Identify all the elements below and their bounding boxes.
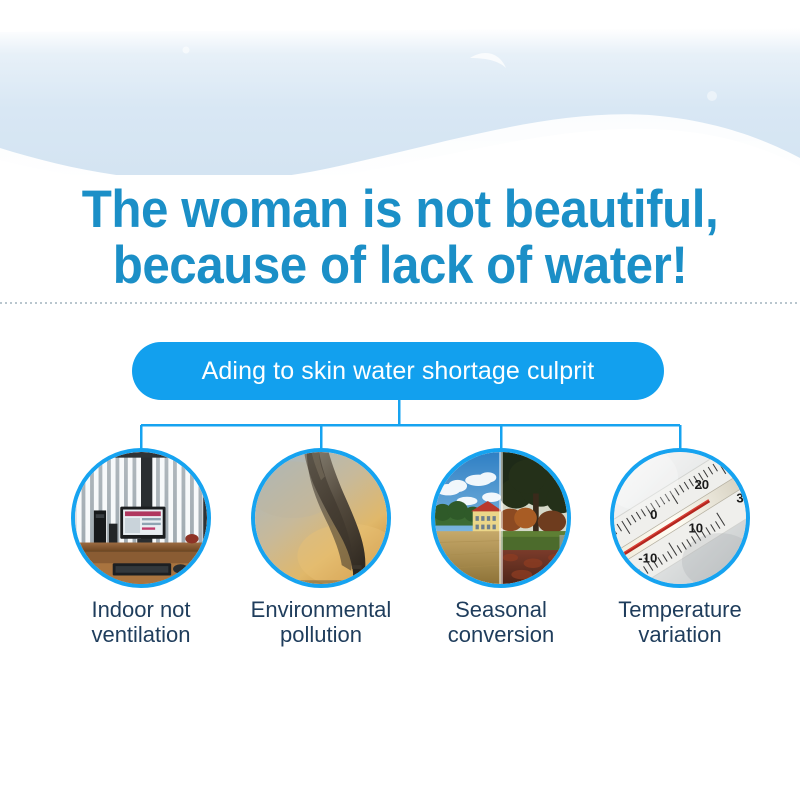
- cause-item-seasonal-conversion[interactable]: Seasonal conversion: [411, 448, 591, 647]
- svg-text:10: 10: [688, 521, 703, 536]
- svg-text:20: 20: [694, 477, 709, 492]
- svg-text:30: 30: [736, 491, 746, 506]
- cause-item-temperature-variation[interactable]: -10 0 10 20 30 Temperature variation: [590, 448, 770, 647]
- cause-items-row: Indoor not ventilation: [0, 448, 800, 678]
- smoke-stack-photo: [255, 452, 387, 584]
- culprit-pill-banner[interactable]: Ading to skin water shortage culprit: [132, 342, 664, 400]
- section-divider: [0, 302, 800, 304]
- cause-caption-pollution: Environmental pollution: [231, 597, 411, 647]
- season-split-photo: [435, 452, 567, 584]
- circle-frame-indoor: [71, 448, 211, 588]
- wave-banner: [0, 0, 800, 175]
- office-interior-photo: [75, 452, 207, 584]
- thermometer-photo: -10 0 10 20 30: [614, 452, 746, 584]
- pill-label: Ading to skin water shortage culprit: [202, 357, 595, 386]
- page-headline: The woman is not beautiful, because of l…: [28, 182, 772, 294]
- cause-item-indoor-not-ventilation[interactable]: Indoor not ventilation: [51, 448, 231, 647]
- svg-text:-10: -10: [638, 551, 657, 566]
- cause-caption-indoor: Indoor not ventilation: [51, 597, 231, 647]
- circle-frame-temperature: -10 0 10 20 30: [610, 448, 750, 588]
- poster-canvas: The woman is not beautiful, because of l…: [0, 0, 800, 800]
- cause-caption-temperature: Temperature variation: [590, 597, 770, 647]
- cause-item-environmental-pollution[interactable]: Environmental pollution: [231, 448, 411, 647]
- cause-caption-seasonal: Seasonal conversion: [411, 597, 591, 647]
- circle-frame-seasonal: [431, 448, 571, 588]
- circle-frame-pollution: [251, 448, 391, 588]
